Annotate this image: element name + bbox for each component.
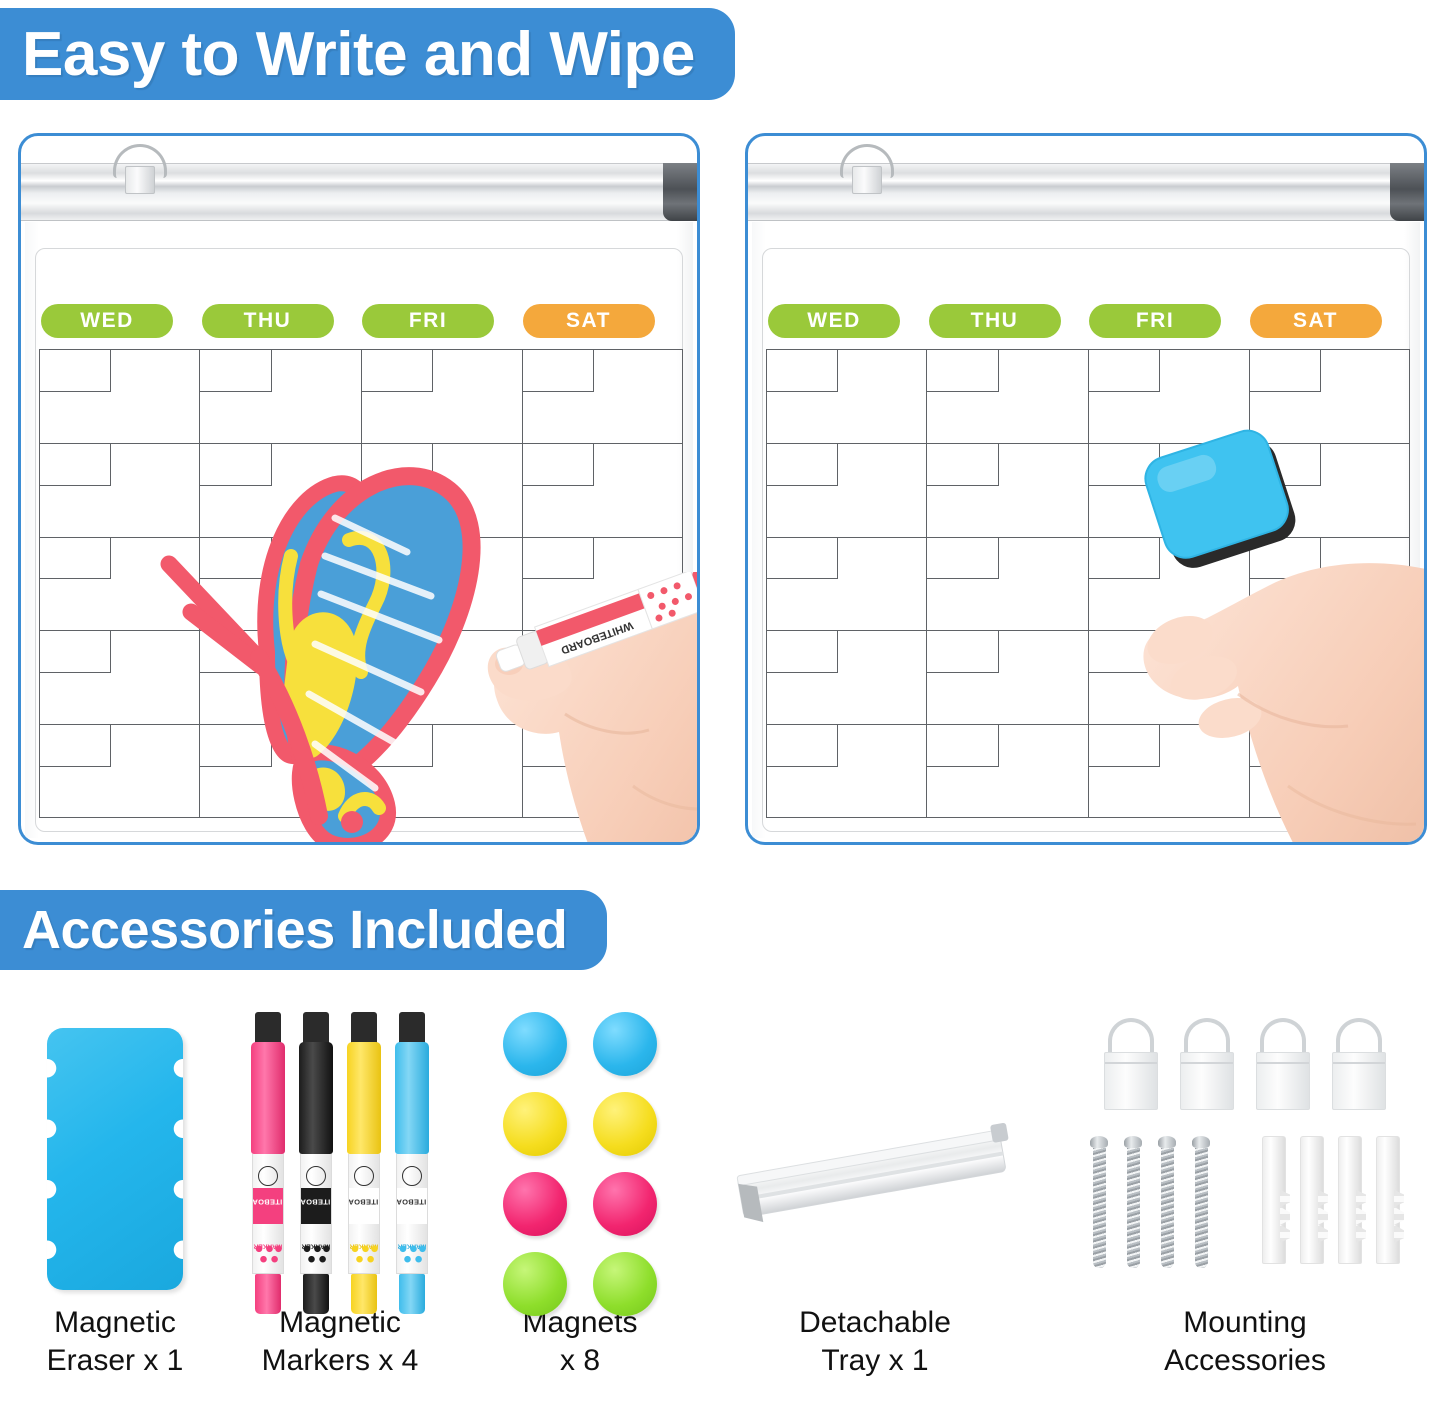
magnet-pink-2 — [593, 1172, 657, 1236]
whiteboard-panel-writing: WED THU FRI SAT — [18, 133, 700, 845]
rail-end-cap — [1390, 163, 1424, 221]
magnet-yellow-2 — [593, 1092, 657, 1156]
day-header-row-right: WED THU FRI SAT — [768, 304, 1410, 338]
magnet-blue-1 — [503, 1012, 567, 1076]
d-ring-hanger-icon — [1104, 1018, 1158, 1114]
screw-set — [1090, 1136, 1210, 1268]
magnet-yellow-1 — [503, 1092, 567, 1156]
calendar-grid-left — [39, 349, 683, 818]
section-banner-accessories-included: Accessories Included — [0, 890, 607, 970]
rail-end-cap — [663, 163, 697, 221]
marker-label: WHITEBOARD — [348, 1198, 380, 1207]
marker-black: WHITEBOARD MARKER — [299, 1012, 333, 1314]
accessory-magnets: Magnets x 8 — [465, 1004, 695, 1380]
d-ring-hanger-icon — [1256, 1018, 1310, 1114]
day-pill-thu: THU — [929, 304, 1061, 338]
wall-plug-icon — [1376, 1136, 1400, 1264]
marker-pink: WHITEBOARD MARKER — [251, 1012, 285, 1314]
marker-label: WHITEBOARD — [396, 1198, 428, 1207]
marker-label: WHITEBOARD — [300, 1198, 332, 1207]
day-pill-thu: THU — [202, 304, 334, 338]
day-header-row-left: WED THU FRI SAT — [41, 304, 683, 338]
tray-icon — [725, 1116, 1025, 1236]
accessory-magnetic-eraser: Magnetic Eraser x 1 — [10, 1004, 220, 1380]
section-banner-accessories-included-label: Accessories Included — [22, 899, 567, 961]
magnet-green-1 — [503, 1252, 567, 1316]
wall-plug-icon — [1262, 1136, 1286, 1264]
wall-plug-icon — [1338, 1136, 1362, 1264]
screw-icon — [1124, 1136, 1142, 1268]
marker-set: WHITEBOARD MARKER WHITEBOARD — [225, 1012, 455, 1314]
day-pill-fri: FRI — [1089, 304, 1221, 338]
marker-blue: WHITEBOARD MARKER — [395, 1012, 429, 1314]
d-ring-hanger-set — [1055, 1018, 1435, 1114]
day-pill-fri: FRI — [362, 304, 494, 338]
eraser-icon — [47, 1028, 183, 1290]
day-pill-sat: SAT — [1250, 304, 1382, 338]
whiteboard-panel-wiping: WED THU FRI SAT — [745, 133, 1427, 845]
d-ring-hanger-icon — [1332, 1018, 1386, 1114]
d-ring-hanger-icon — [1180, 1018, 1234, 1114]
magnet-set — [465, 1012, 695, 1316]
day-pill-wed: WED — [768, 304, 900, 338]
accessory-caption-eraser: Magnetic Eraser x 1 — [10, 1304, 220, 1380]
day-pill-wed: WED — [41, 304, 173, 338]
marker-label: WHITEBOARD — [252, 1198, 284, 1207]
screw-icon — [1090, 1136, 1108, 1268]
accessory-caption-markers: Magnetic Markers x 4 — [225, 1304, 455, 1380]
section-banner-easy-to-write-label: Easy to Write and Wipe — [22, 19, 695, 90]
magnet-green-2 — [593, 1252, 657, 1316]
marker-yellow: WHITEBOARD MARKER — [347, 1012, 381, 1314]
d-ring-hanger-icon — [107, 144, 173, 190]
wall-plug-set — [1262, 1136, 1400, 1268]
magnet-pink-1 — [503, 1172, 567, 1236]
wall-plug-icon — [1300, 1136, 1324, 1264]
screw-icon — [1192, 1136, 1210, 1268]
d-ring-hanger-icon — [834, 144, 900, 190]
magnet-blue-2 — [593, 1012, 657, 1076]
accessory-caption-tray: Detachable Tray x 1 — [720, 1304, 1030, 1380]
screw-icon — [1158, 1136, 1176, 1268]
accessory-detachable-tray: Detachable Tray x 1 — [720, 1004, 1030, 1380]
product-infographic: Easy to Write and Wipe WED THU FRI SAT — [0, 0, 1445, 1404]
day-pill-sat: SAT — [523, 304, 655, 338]
accessory-mounting: Mounting Accessories — [1055, 1004, 1435, 1380]
accessory-magnetic-markers: WHITEBOARD MARKER WHITEBOARD — [225, 1004, 455, 1380]
accessories-row: Magnetic Eraser x 1 WHITEBOARD MARKER — [0, 1000, 1445, 1404]
accessory-caption-mounting: Mounting Accessories — [1055, 1304, 1435, 1380]
calendar-grid-right — [766, 349, 1410, 818]
section-banner-easy-to-write: Easy to Write and Wipe — [0, 8, 735, 100]
